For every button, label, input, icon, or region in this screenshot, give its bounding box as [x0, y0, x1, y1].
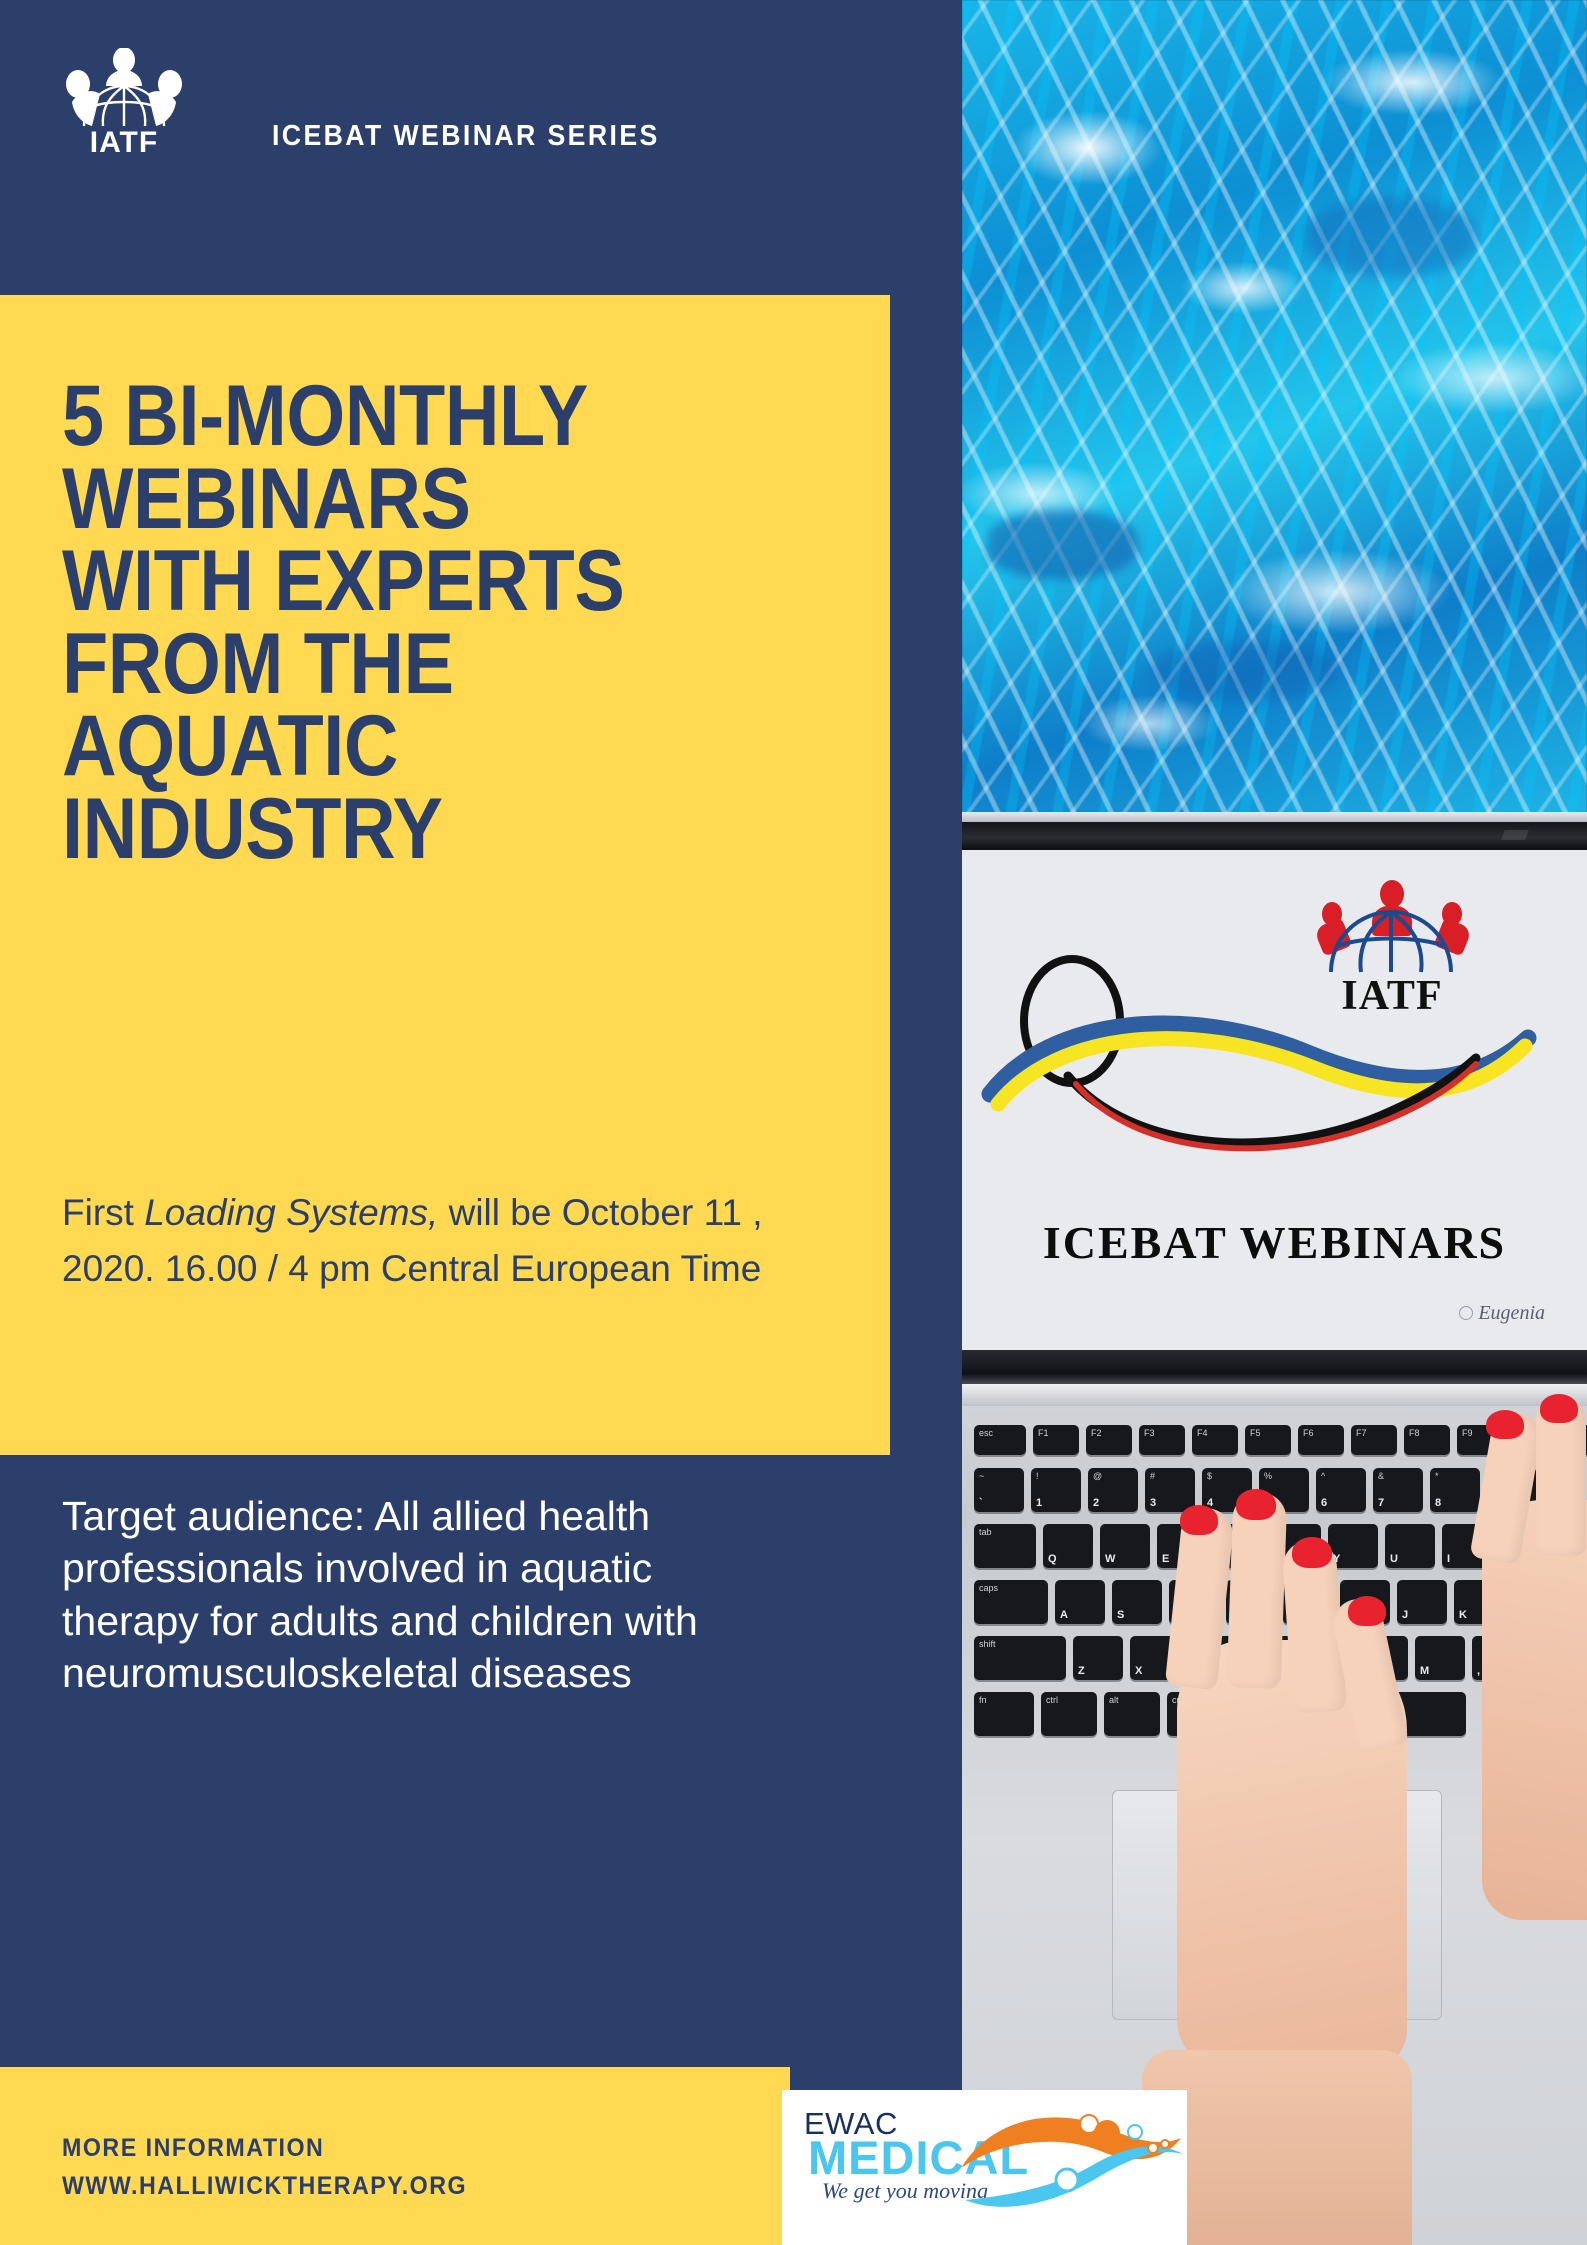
hero-photo: IATF ICEBAT WEBINARS Eugenia esc F1 F2	[962, 0, 1587, 2245]
slide-title: ICEBAT WEBINARS	[962, 1216, 1587, 1269]
website-link[interactable]: WWW.HALLIWICKTHERAPY.ORG	[62, 2168, 467, 2206]
more-information-label: MORE INFORMATION	[62, 2130, 467, 2168]
series-title: ICEBAT WEBINAR SERIES	[272, 120, 660, 153]
laptop-hinge	[962, 822, 1587, 850]
poster-header: IATF ICEBAT WEBINAR SERIES	[0, 0, 962, 295]
laptop-lid-edge	[962, 812, 1587, 822]
page-title: 5 BI-MONTHLY WEBINARS WITH EXPERTS FROM …	[62, 375, 757, 870]
watermark-text: Eugenia	[1478, 1302, 1545, 1324]
footer-contact: MORE INFORMATION WWW.HALLIWICKTHERAPY.OR…	[62, 2130, 467, 2205]
slide-watermark: Eugenia	[1459, 1302, 1545, 1325]
headline-line: INDUSTRY	[62, 788, 757, 871]
headline-line: AQUATIC	[62, 705, 757, 788]
laptop-screen: IATF ICEBAT WEBINARS Eugenia	[962, 850, 1587, 1350]
target-audience-text: Target audience: All allied health profe…	[62, 1490, 762, 1700]
icebat-swoosh-graphic	[980, 946, 1540, 1196]
keyboard-lip	[962, 1350, 1587, 1384]
pool-water-image	[962, 0, 1587, 822]
detail-prefix: First	[62, 1192, 144, 1233]
headline-line: WITH EXPERTS	[62, 540, 757, 623]
ewac-wave-icon	[957, 2104, 1185, 2216]
hero-panel: 5 BI-MONTHLY WEBINARS WITH EXPERTS FROM …	[0, 295, 890, 1455]
svg-text:IATF: IATF	[90, 126, 158, 156]
keyboard-shine	[962, 1384, 1587, 1406]
iatf-logo-icon: IATF	[62, 48, 186, 156]
icebat-webinars-slide: IATF ICEBAT WEBINARS Eugenia	[962, 850, 1587, 1350]
headline-line: FROM THE	[62, 623, 757, 706]
poster: IATF ICEBAT WEBINARS Eugenia esc F1 F2	[0, 0, 1587, 2245]
headline-line: 5 BI-MONTHLY	[62, 375, 757, 458]
event-details: First Loading Systems, will be October 1…	[62, 1185, 822, 1296]
sponsor-logo: EWAC MEDICAL We get you moving	[782, 2090, 1187, 2245]
detail-topic: Loading Systems,	[144, 1192, 438, 1233]
headline-line: WEBINARS	[62, 458, 757, 541]
